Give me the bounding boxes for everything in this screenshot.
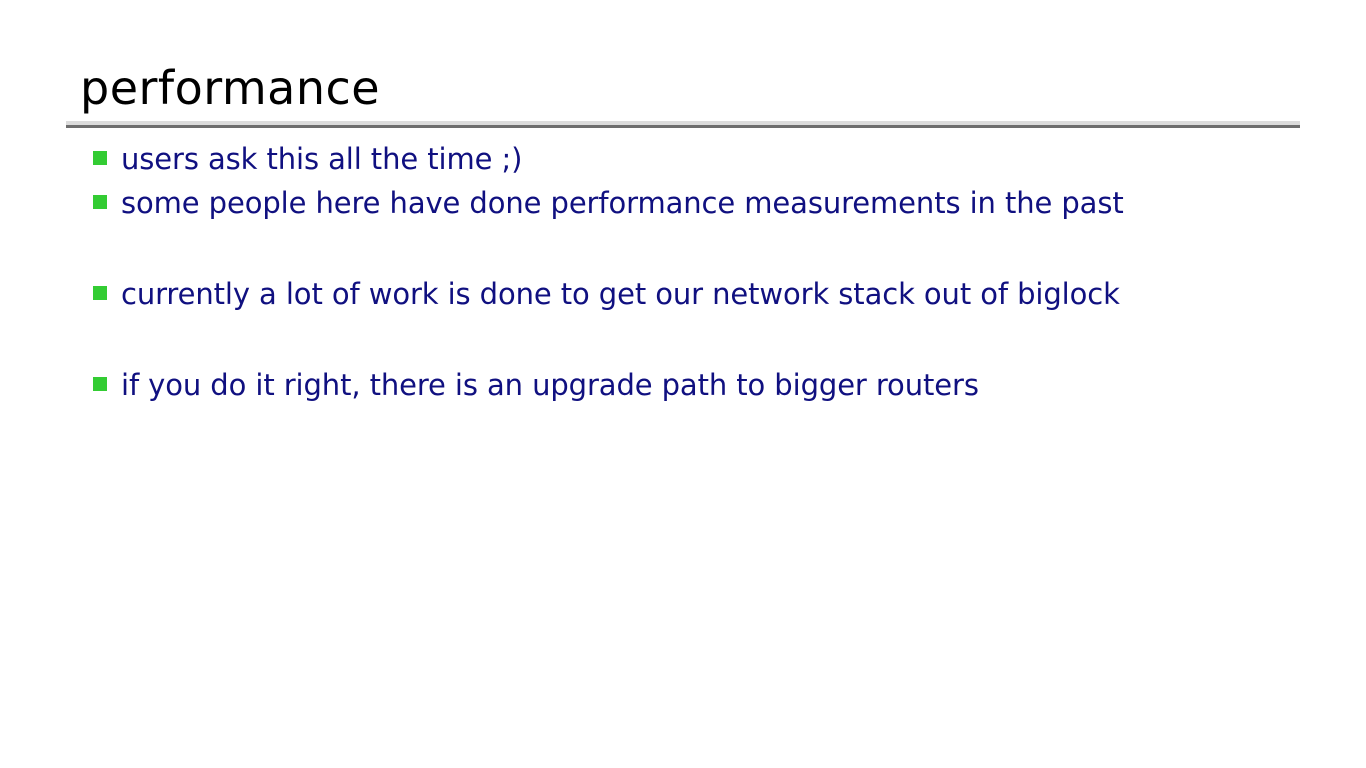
list-item-label: if you do it right, there is an upgrade … xyxy=(121,364,1323,407)
title-divider xyxy=(66,121,1300,128)
square-bullet-icon xyxy=(93,195,107,209)
bullet-list: users ask this all the time ;) some peop… xyxy=(93,138,1323,408)
list-item-label: some people here have done performance m… xyxy=(121,182,1323,225)
list-item-label: users ask this all the time ;) xyxy=(121,138,1323,181)
divider-shadow-line xyxy=(66,125,1300,128)
square-bullet-icon xyxy=(93,377,107,391)
list-item: if you do it right, there is an upgrade … xyxy=(93,364,1323,408)
square-bullet-icon xyxy=(93,286,107,300)
list-item-label: currently a lot of work is done to get o… xyxy=(121,273,1323,316)
list-item: some people here have done performance m… xyxy=(93,182,1323,226)
presentation-slide: performance users ask this all the time … xyxy=(0,0,1366,768)
square-bullet-icon xyxy=(93,151,107,165)
list-item: users ask this all the time ;) xyxy=(93,138,1323,182)
list-item: currently a lot of work is done to get o… xyxy=(93,273,1323,317)
page-title: performance xyxy=(80,60,380,116)
